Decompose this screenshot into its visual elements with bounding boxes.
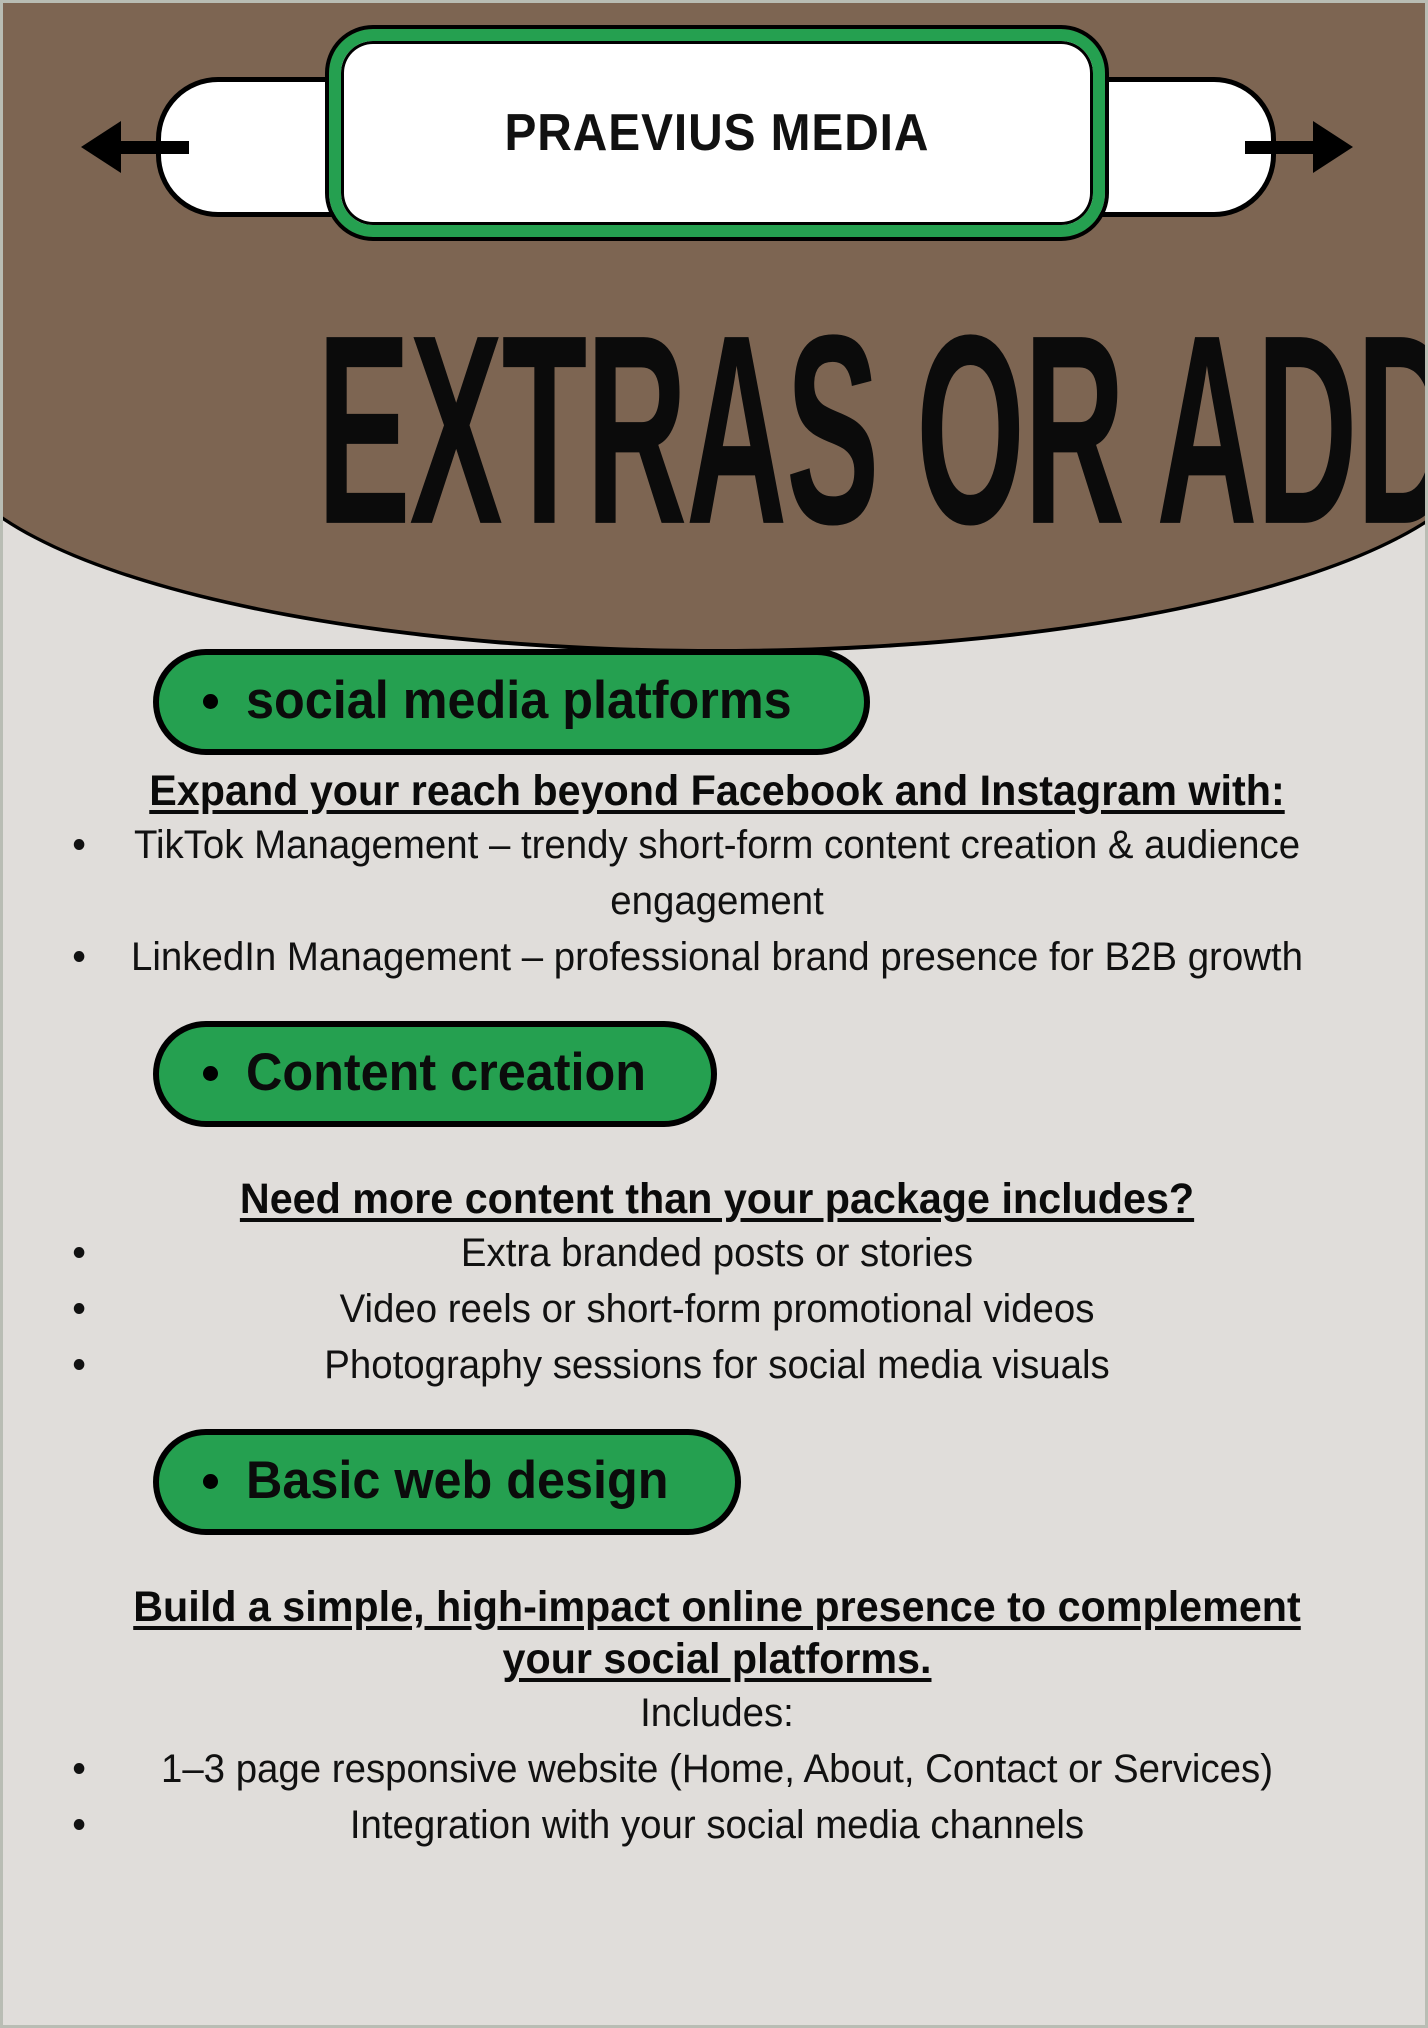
bullet-dot-icon	[203, 1474, 218, 1489]
list-item-text: Extra branded posts or stories	[461, 1231, 973, 1275]
list-item: Video reels or short-form promotional vi…	[32, 1281, 1403, 1337]
list-item: Extra branded posts or stories	[32, 1225, 1403, 1281]
section-social-media-platforms: social media platforms Expand your reach…	[3, 649, 1428, 985]
arrow-left-stem	[121, 141, 189, 154]
list-item-text: Integration with your social media chann…	[350, 1803, 1084, 1847]
section-lead: Expand your reach beyond Facebook and In…	[32, 765, 1403, 817]
list-item-text: Video reels or short-form promotional vi…	[340, 1287, 1095, 1331]
pill-content-creation[interactable]: Content creation	[153, 1021, 717, 1127]
pill-label: Basic web design	[246, 1451, 669, 1511]
brand-banner: PRAEVIUS MEDIA	[3, 77, 1428, 217]
section-bullet-list: 1–3 page responsive website (Home, About…	[3, 1741, 1428, 1853]
list-item: Photography sessions for social media vi…	[32, 1337, 1403, 1393]
pill-social-media-platforms[interactable]: social media platforms	[153, 649, 870, 755]
arrow-right-stem	[1245, 141, 1313, 154]
bullet-dot-icon	[74, 1763, 85, 1774]
pill-label: social media platforms	[246, 671, 792, 731]
section-bullet-list: Extra branded posts or stories Video ree…	[3, 1225, 1428, 1393]
brand-capsule: PRAEVIUS MEDIA	[329, 29, 1105, 237]
bullet-dot-icon	[74, 1247, 85, 1258]
bullet-dot-icon	[74, 1359, 85, 1370]
bullet-dot-icon	[74, 951, 85, 962]
content-body: social media platforms Expand your reach…	[3, 643, 1428, 1853]
arrow-right-head	[1313, 121, 1353, 173]
list-item-text: 1–3 page responsive website (Home, About…	[161, 1747, 1273, 1791]
bullet-dot-icon	[203, 1066, 218, 1081]
bullet-dot-icon	[74, 1819, 85, 1830]
list-item-text: TikTok Management – trendy short-form co…	[134, 823, 1300, 923]
list-item-text: LinkedIn Management – professional brand…	[131, 935, 1303, 979]
section-lead: Build a simple, high-impact online prese…	[32, 1581, 1403, 1685]
pill-label: Content creation	[246, 1043, 646, 1103]
bullet-dot-icon	[74, 1303, 85, 1314]
brand-name: PRAEVIUS MEDIA	[505, 103, 930, 163]
bullet-dot-icon	[74, 839, 85, 850]
list-item: TikTok Management – trendy short-form co…	[32, 817, 1403, 929]
section-includes-label: Includes:	[32, 1685, 1403, 1741]
pill-basic-web-design[interactable]: Basic web design	[153, 1429, 741, 1535]
section-basic-web-design: Basic web design Build a simple, high-im…	[3, 1429, 1428, 1853]
arrow-right-icon	[1245, 132, 1353, 162]
section-lead: Need more content than your package incl…	[32, 1173, 1403, 1225]
poster-page: PRAEVIUS MEDIA EXTRAS OR ADD-ON social m…	[0, 0, 1428, 2028]
list-item: 1–3 page responsive website (Home, About…	[32, 1741, 1403, 1797]
arrow-left-head	[81, 121, 121, 173]
list-item: LinkedIn Management – professional brand…	[32, 929, 1403, 985]
list-item: Integration with your social media chann…	[32, 1797, 1403, 1853]
arrow-left-icon	[81, 132, 189, 162]
list-item-text: Photography sessions for social media vi…	[324, 1343, 1109, 1387]
bullet-dot-icon	[203, 694, 218, 709]
section-content-creation: Content creation Need more content than …	[3, 1021, 1428, 1393]
section-bullet-list: TikTok Management – trendy short-form co…	[3, 817, 1428, 985]
page-title: EXTRAS OR ADD-ON	[317, 295, 1117, 565]
